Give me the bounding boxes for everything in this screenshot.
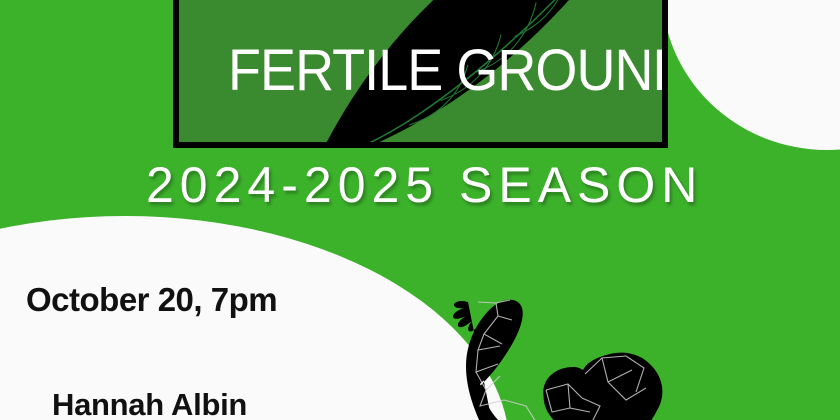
page-title: FERTILE GROUND: [228, 42, 668, 100]
dancer-silhouette-icon: [440, 272, 740, 420]
event-poster: FERTILE GROUND 2024-2025 SEASON October …: [0, 0, 840, 420]
event-date-time: October 20, 7pm: [26, 282, 277, 318]
organization-banner: FERTILE GROUND: [173, 0, 668, 148]
performer-name: Hannah Albin: [52, 388, 247, 420]
season-label: 2024-2025 SEASON: [146, 160, 703, 210]
